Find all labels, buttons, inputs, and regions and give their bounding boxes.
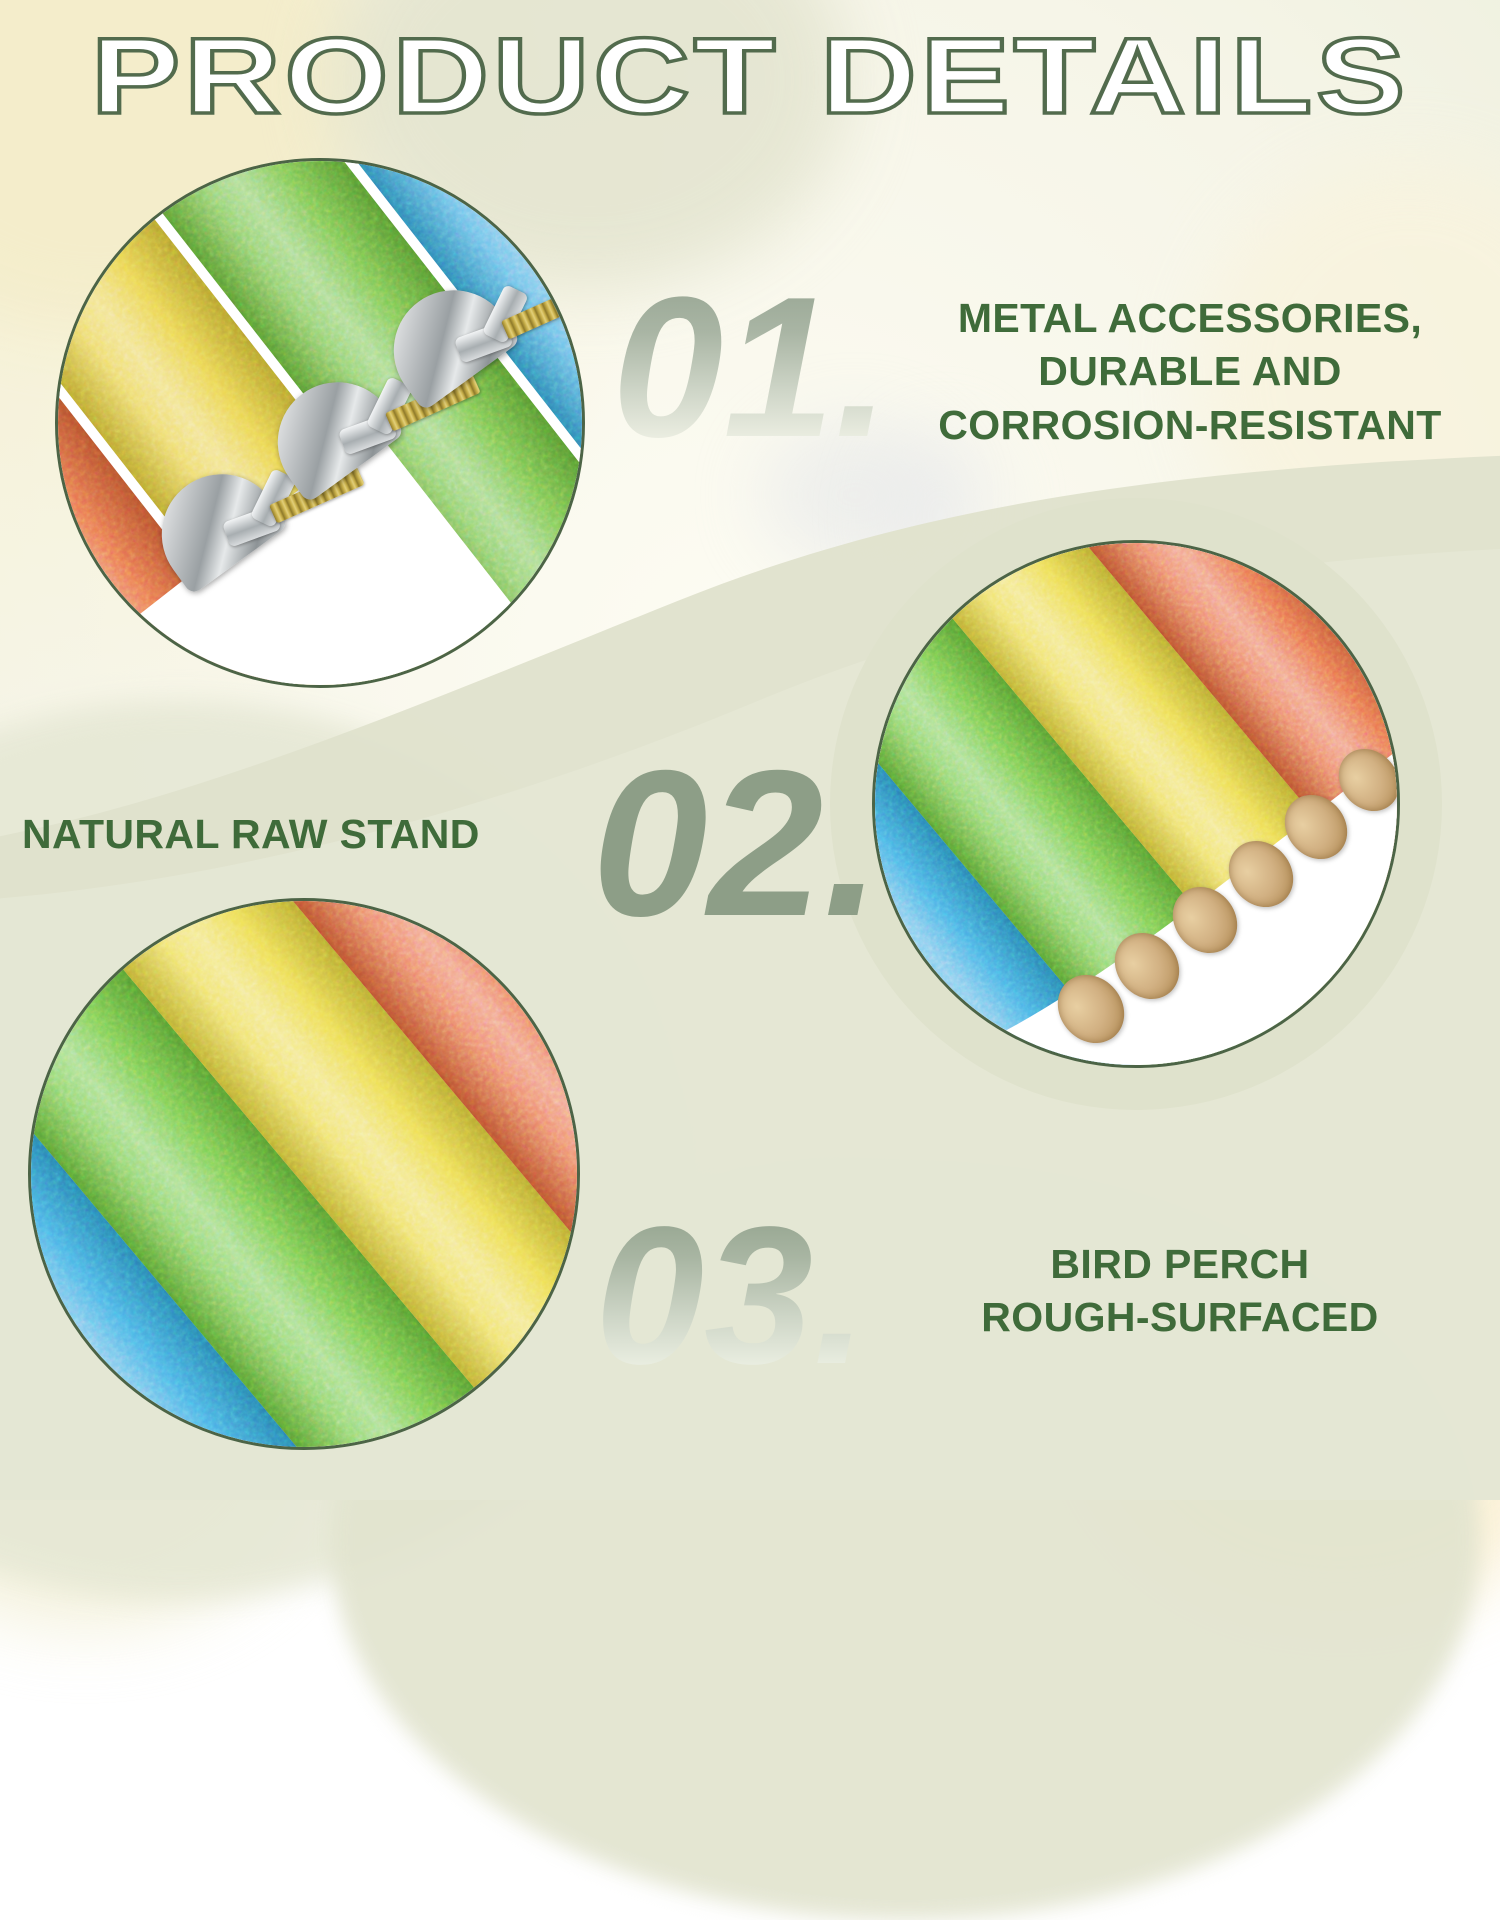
section-heading-03-line-2: ROUGH-SURFACED bbox=[900, 1291, 1460, 1344]
product-image-natural-raw-stand bbox=[872, 540, 1400, 1068]
section-heading-01-line-3: CORROSION-RESISTANT bbox=[890, 399, 1490, 452]
section-number-01: 01. bbox=[612, 268, 890, 468]
section-heading-03-line-1: BIRD PERCH bbox=[900, 1238, 1460, 1291]
section-number-02: 02. bbox=[592, 740, 881, 948]
product-image-rough-surface bbox=[28, 898, 580, 1450]
raw-photo-inner bbox=[875, 543, 1397, 1065]
section-heading-02: NATURAL RAW STAND bbox=[22, 808, 582, 861]
section-heading-02-line-1: NATURAL RAW STAND bbox=[22, 808, 582, 861]
section-heading-01: METAL ACCESSORIES, DURABLE AND CORROSION… bbox=[890, 292, 1490, 452]
section-heading-01-line-1: METAL ACCESSORIES, bbox=[890, 292, 1490, 345]
perch-stick-stack-rough bbox=[28, 898, 580, 1450]
rough-photo-inner bbox=[31, 901, 577, 1447]
section-number-03: 03. bbox=[595, 1198, 867, 1394]
page-title: PRODUCT DETAILS bbox=[0, 22, 1500, 130]
product-image-metal-accessories bbox=[55, 158, 585, 688]
metal-photo-inner bbox=[58, 161, 582, 685]
section-heading-01-line-2: DURABLE AND bbox=[890, 345, 1490, 398]
section-heading-03: BIRD PERCH ROUGH-SURFACED bbox=[900, 1238, 1460, 1345]
